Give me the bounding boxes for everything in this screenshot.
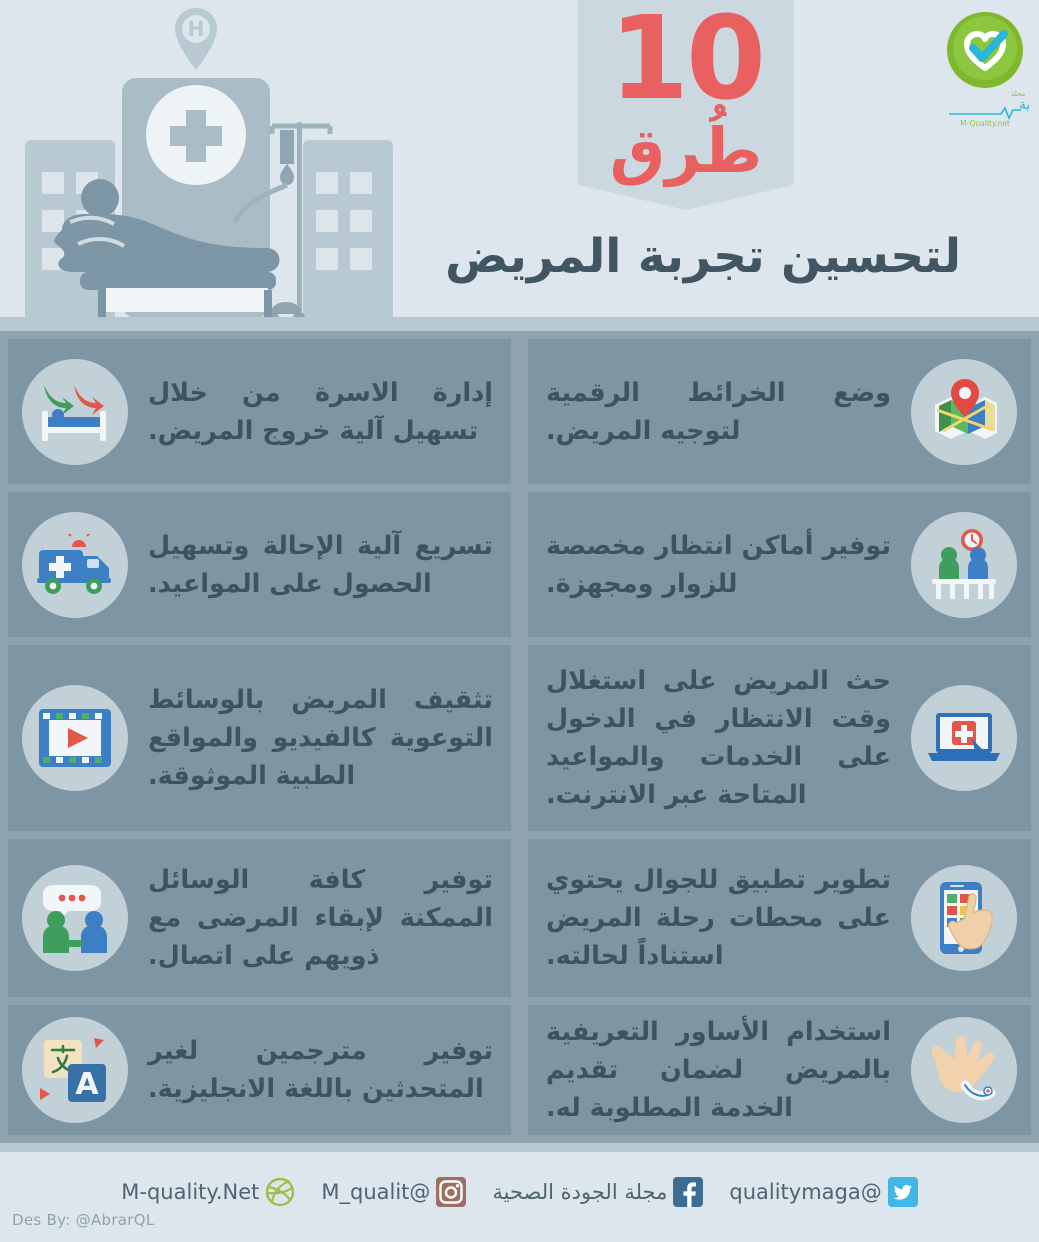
social-link-facebook[interactable]: مجلة الجودة الصحية <box>492 1177 703 1207</box>
page-title: لتحسين تجربة المريض <box>445 228 961 286</box>
mobile-app-hand-icon <box>911 865 1017 971</box>
tip-card-9-text: توفير كافة الوسائل الممكنة لإبقاء المرضى… <box>148 861 493 975</box>
tip-card-2[interactable]: توفير أماكن انتظار مخصصة للزوار ومجهزة. <box>528 492 1031 637</box>
header-base-strip <box>0 317 1039 331</box>
tip-card-7-text: تسريع آلية الإحالة وتسهيل الحصول على الم… <box>148 527 493 603</box>
footer: @qualitymaga مجلة الجودة الصحية <box>0 1143 1039 1242</box>
tip-card-6[interactable]: إدارة الاسرة من خلال تسهيل آلية خروج الم… <box>8 339 511 484</box>
bed-discharge-arrows-icon <box>22 359 128 465</box>
social-link-instagram[interactable]: @M_qualit <box>321 1177 466 1207</box>
headline-number-word: طُرق <box>578 116 794 186</box>
tip-card-5-text: استخدام الأساور التعريفية بالمريض لضمان … <box>546 1013 891 1127</box>
waiting-room-clock-icon <box>911 512 1017 618</box>
header: H <box>0 0 1039 331</box>
tip-card-4[interactable]: تطوير تطبيق للجوال يحتوي على محطات رحلة … <box>528 839 1031 997</box>
people-chat-icon <box>22 865 128 971</box>
social-label-facebook: مجلة الجودة الصحية <box>492 1180 667 1204</box>
svg-text:H: H <box>188 17 205 41</box>
svg-text:M-Quality.net: M-Quality.net <box>960 119 1010 128</box>
twitter-icon <box>888 1177 918 1207</box>
wristband-hand-icon <box>911 1017 1017 1123</box>
map-pin-icon <box>911 359 1017 465</box>
tip-card-1[interactable]: وضع الخرائط الرقمية لتوجيه المريض. <box>528 339 1031 484</box>
laptop-medical-icon <box>911 685 1017 791</box>
tip-card-8-text: تثقيف المريض بالوسائط التوعوية كالفيديو … <box>148 681 493 795</box>
tip-card-3-text: حث المريض على استغلال وقت الانتظار في ال… <box>546 662 891 814</box>
tip-card-5[interactable]: استخدام الأساور التعريفية بالمريض لضمان … <box>528 1005 1031 1135</box>
tip-card-6-text: إدارة الاسرة من خلال تسهيل آلية خروج الم… <box>148 374 493 450</box>
tip-card-3[interactable]: حث المريض على استغلال وقت الانتظار في ال… <box>528 645 1031 831</box>
tip-card-10-text: توفير مترجمين لغير المتحدثين باللغة الان… <box>148 1032 493 1108</box>
social-link-website[interactable]: M-quality.Net <box>121 1177 295 1207</box>
tips-grid: وضع الخرائط الرقمية لتوجيه المريض. <box>0 331 1039 1143</box>
hospital-patient-bed-illustration: H <box>0 0 420 331</box>
tip-card-1-text: وضع الخرائط الرقمية لتوجيه المريض. <box>546 374 891 450</box>
headline-number: 10 <box>578 2 794 117</box>
headline-number-box: 10 طُرق <box>578 0 794 210</box>
instagram-icon <box>436 1177 466 1207</box>
facebook-icon <box>673 1177 703 1207</box>
tip-card-8[interactable]: تثقيف المريض بالوسائط التوعوية كالفيديو … <box>8 645 511 831</box>
infographic-page: H <box>0 0 1039 1242</box>
tip-card-4-text: تطوير تطبيق للجوال يحتوي على محطات رحلة … <box>546 861 891 975</box>
svg-text:A: A <box>75 1067 99 1102</box>
translate-language-icon: A <box>22 1017 128 1123</box>
tip-card-10[interactable]: A توفير مترجمين لغير المتحدثين باللغة ال… <box>8 1005 511 1135</box>
ambulance-icon <box>22 512 128 618</box>
social-label-instagram: @M_qualit <box>321 1180 430 1204</box>
footer-top-strip <box>0 1143 1039 1152</box>
social-label-twitter: @qualitymaga <box>729 1180 881 1204</box>
tip-card-7[interactable]: تسريع آلية الإحالة وتسهيل الحصول على الم… <box>8 492 511 637</box>
video-film-play-icon <box>22 685 128 791</box>
tip-card-9[interactable]: توفير كافة الوسائل الممكنة لإبقاء المرضى… <box>8 839 511 997</box>
dribbble-icon <box>265 1177 295 1207</box>
tip-card-2-text: توفير أماكن انتظار مخصصة للزوار ومجهزة. <box>546 527 891 603</box>
social-link-twitter[interactable]: @qualitymaga <box>729 1177 917 1207</box>
social-label-website: M-quality.Net <box>121 1180 259 1204</box>
social-links: @qualitymaga مجلة الجودة الصحية <box>0 1177 1039 1207</box>
m-quality-logo: مجلة الجودة الصحية M-Quality.net <box>941 10 1029 130</box>
designer-credit: Des By: @AbrarQL <box>12 1211 155 1229</box>
